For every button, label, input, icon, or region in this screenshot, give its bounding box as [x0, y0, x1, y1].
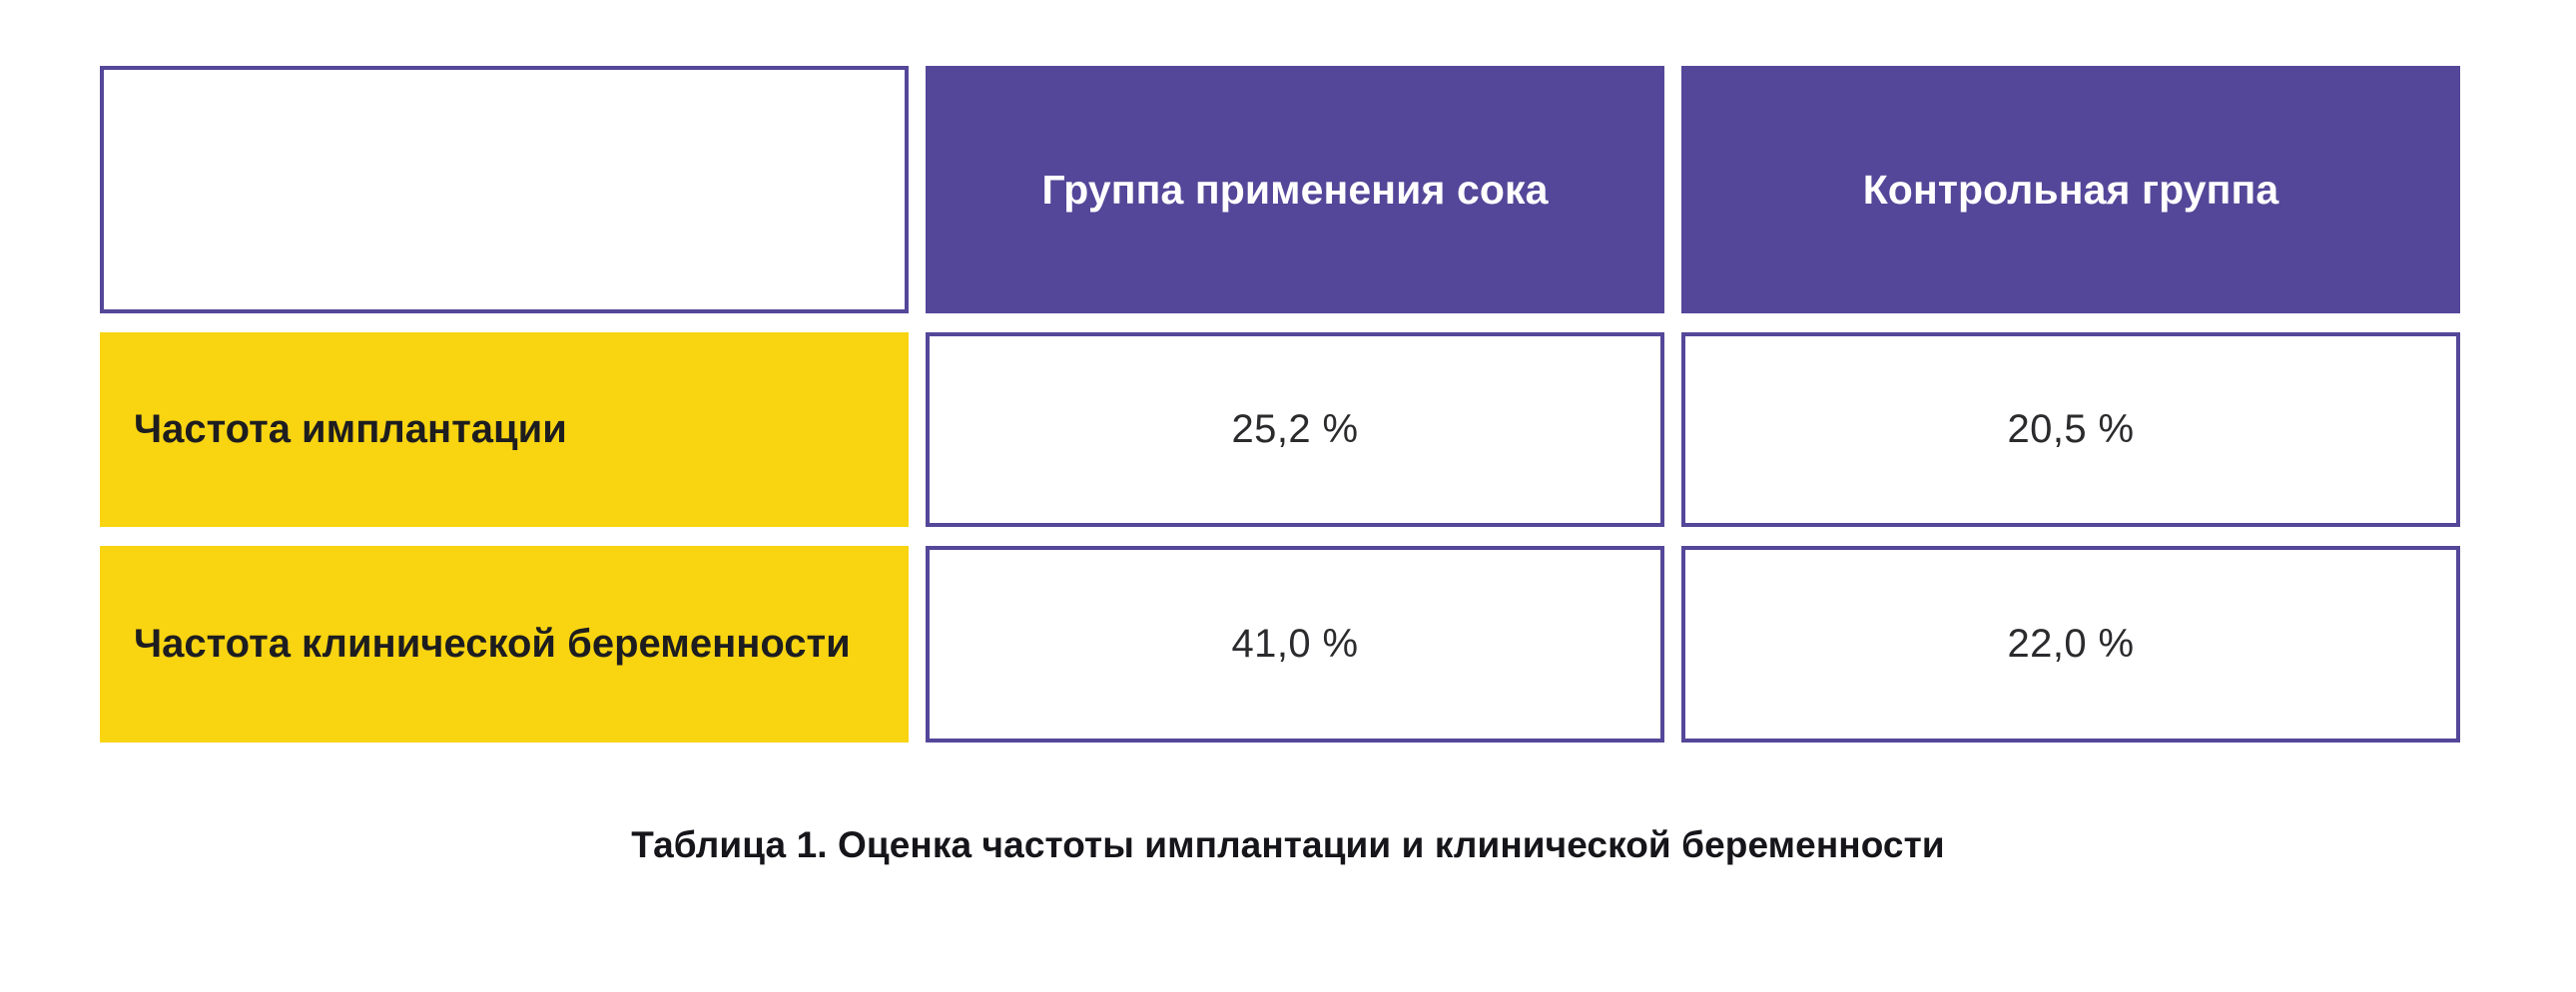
comparison-table: Группа применения сока Контрольная групп… — [100, 66, 2461, 743]
table-figure: Группа применения сока Контрольная групп… — [0, 0, 2576, 992]
cell-pregnancy-juice-group: 41,0 % — [926, 546, 1664, 743]
table-corner-cell — [100, 66, 909, 313]
column-header-control-group: Контрольная группа — [1681, 66, 2460, 313]
column-header-juice-group: Группа применения сока — [926, 66, 1664, 313]
row-label-implantation-rate: Частота имплантации — [100, 332, 909, 527]
row-label-clinical-pregnancy-rate: Частота клинической беременности — [100, 546, 909, 743]
cell-pregnancy-control-group: 22,0 % — [1681, 546, 2460, 743]
cell-implantation-control-group: 20,5 % — [1681, 332, 2460, 527]
table-caption: Таблица 1. Оценка частоты имплантации и … — [0, 824, 2576, 866]
cell-implantation-juice-group: 25,2 % — [926, 332, 1664, 527]
